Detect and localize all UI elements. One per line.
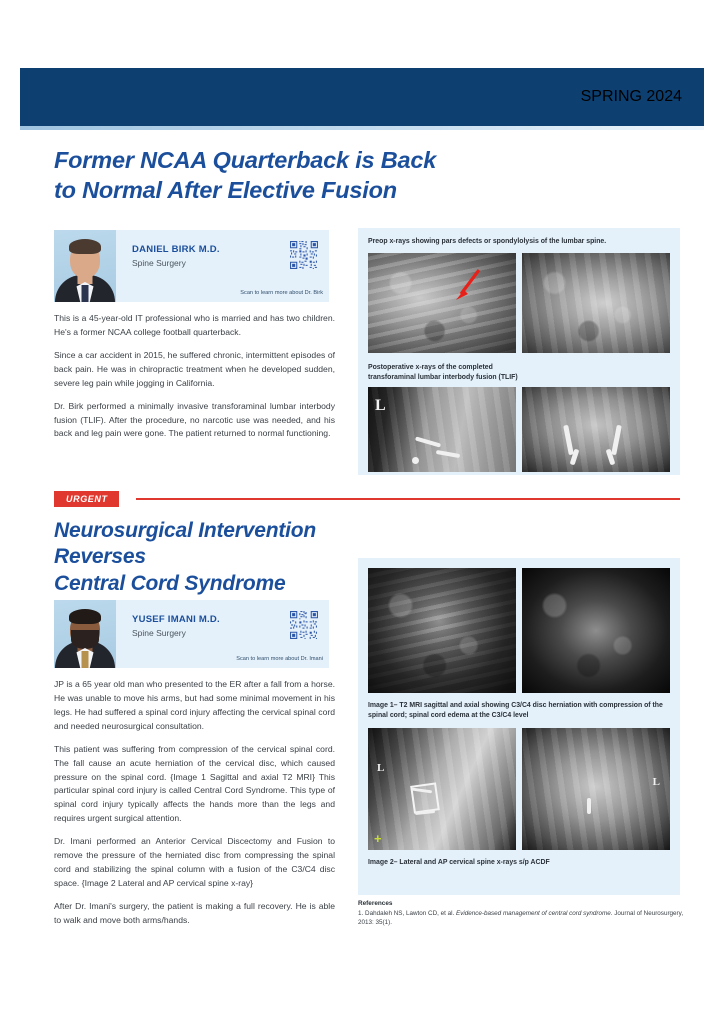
article2-headline-line2: Central Cord Syndrome xyxy=(54,571,384,597)
urgent-divider xyxy=(136,498,680,500)
xray-cervical-lateral: L + xyxy=(368,728,516,850)
left-marker-label: L xyxy=(375,397,386,415)
xray-postop-lateral: L xyxy=(368,387,516,472)
references-heading: References xyxy=(358,900,688,907)
avatar-yusef-imani xyxy=(54,600,116,668)
doctor-card-imani[interactable]: YUSEF IMANI M.D. Spine Surgery xyxy=(54,600,329,668)
article1-headline-line2: to Normal After Elective Fusion xyxy=(54,176,524,206)
mri-axial-image xyxy=(522,568,670,693)
reference-item: 1. Dahdaleh NS, Lawton CD, et al. Eviden… xyxy=(358,909,688,927)
caption-image1-text: – T2 MRI sagittal and axial showing C3/C… xyxy=(368,702,663,719)
annotation-arrow-icon xyxy=(452,267,484,301)
article2-headline-line1: Neurosurgical Intervention Reverses xyxy=(54,518,384,571)
left-marker-label: L xyxy=(377,762,384,774)
article1-paragraph: This is a 45-year-old IT professional wh… xyxy=(54,312,335,340)
acdf-xray-row: L + L xyxy=(358,728,680,850)
qr-code-icon[interactable] xyxy=(289,240,319,270)
qr-scan-label: Scan to learn more about Dr. Imani xyxy=(236,656,323,662)
article1-paragraph: Since a car accident in 2015, he suffere… xyxy=(54,349,335,391)
xray-postop-ap xyxy=(522,387,670,472)
left-marker-label-ap: L xyxy=(653,776,660,788)
preop-xray-row xyxy=(358,253,680,353)
postop-xray-row: L xyxy=(358,387,680,472)
article2-paragraph: JP is a 65 year old man who presented to… xyxy=(54,678,335,734)
header-accent-rule xyxy=(20,126,704,130)
article1-paragraph: Dr. Birk performed a minimally invasive … xyxy=(54,400,335,442)
caption-postop-line2: transforaminal lumbar interbody fusion (… xyxy=(368,373,670,383)
caption-postop: Postoperative x-rays of the completed tr… xyxy=(358,353,680,383)
reference-title: Evidence-based management of central cor… xyxy=(456,910,612,917)
article2-image-panel: Image 1– T2 MRI sagittal and axial showi… xyxy=(358,558,680,895)
qr-scan-label: Scan to learn more about Dr. Birk xyxy=(240,290,323,296)
article2-headline: Neurosurgical Intervention Reverses Cent… xyxy=(54,518,384,597)
article2-paragraph: After Dr. Imani's surgery, the patient i… xyxy=(54,900,335,928)
mri-sagittal-image xyxy=(368,568,516,693)
reference-number: 1. xyxy=(358,910,363,917)
article2-paragraph: This patient was suffering from compress… xyxy=(54,743,335,827)
caption-preop: Preop x-rays showing pars defects or spo… xyxy=(358,228,680,247)
references-block: References 1. Dahdaleh NS, Lawton CD, et… xyxy=(358,900,688,927)
caption-image1-label: Image 1 xyxy=(368,702,394,709)
mri-image-row xyxy=(358,558,680,693)
calibration-marker-icon: + xyxy=(374,832,382,845)
caption-image2-label: Image 2 xyxy=(368,859,394,866)
xray-preop-lateral xyxy=(368,253,516,353)
urgent-banner: URGENT xyxy=(54,491,680,507)
reference-authors: Dahdaleh NS, Lawton CD, et al. xyxy=(365,910,454,917)
header-bar: SPRING 2024 xyxy=(20,68,704,126)
caption-image2: Image 2– Lateral and AP cervical spine x… xyxy=(358,850,680,868)
article1-headline: Former NCAA Quarterback is Back to Norma… xyxy=(54,146,524,206)
avatar-daniel-birk xyxy=(54,230,116,302)
caption-image2-text: – Lateral and AP cervical spine x-rays s… xyxy=(394,859,550,866)
status-badge-urgent: URGENT xyxy=(54,491,119,507)
caption-image1: Image 1– T2 MRI sagittal and axial showi… xyxy=(358,693,680,721)
caption-postop-line1: Postoperative x-rays of the completed xyxy=(368,363,670,373)
xray-cervical-ap: L xyxy=(522,728,670,850)
issue-date: SPRING 2024 xyxy=(581,88,682,106)
article1-body: This is a 45-year-old IT professional wh… xyxy=(54,312,335,441)
article1-image-panel: Preop x-rays showing pars defects or spo… xyxy=(358,228,680,475)
xray-preop-oblique xyxy=(522,253,670,353)
doctor-card-birk[interactable]: DANIEL BIRK M.D. Spine Surgery xyxy=(54,230,329,302)
article2-body: JP is a 65 year old man who presented to… xyxy=(54,678,335,928)
article2-paragraph: Dr. Imani performed an Anterior Cervical… xyxy=(54,835,335,891)
qr-code-icon[interactable] xyxy=(289,610,319,640)
newsletter-page: SPRING 2024 Former NCAA Quarterback is B… xyxy=(0,0,724,1024)
article1-headline-line1: Former NCAA Quarterback is Back xyxy=(54,146,524,176)
